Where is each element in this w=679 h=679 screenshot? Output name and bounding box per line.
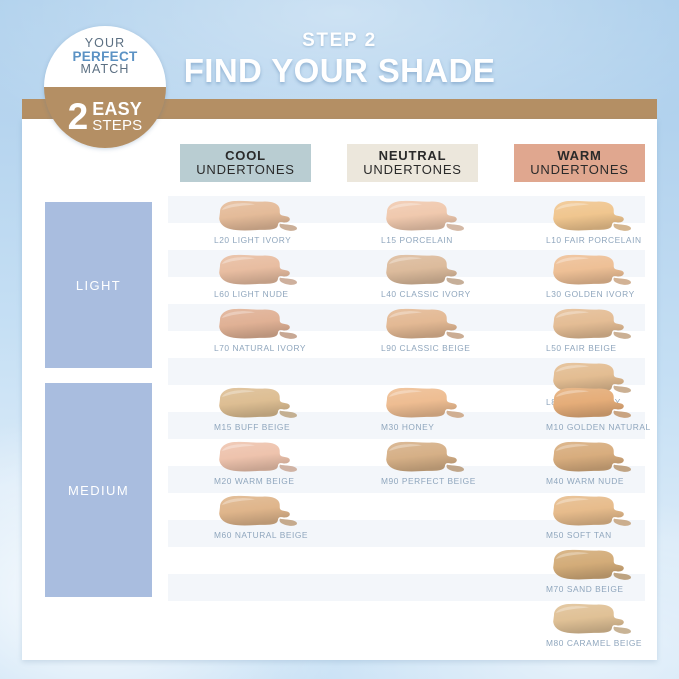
shade-label: L90 CLASSIC BEIGE: [367, 343, 527, 353]
shade-swatch-icon: [548, 306, 643, 342]
column-title-neutral: NEUTRAL: [379, 149, 447, 163]
shade-swatch-icon: [381, 252, 476, 288]
depth-block-medium: MEDIUM: [45, 383, 152, 597]
shade-cell[interactable]: L90 CLASSIC BEIGE: [367, 306, 527, 353]
shade-swatch-icon: [381, 439, 476, 475]
shade-cell[interactable]: L60 LIGHT NUDE: [200, 252, 360, 299]
shade-swatch-icon: [381, 385, 476, 421]
shade-label: M30 HONEY: [367, 422, 527, 432]
shade-swatch-icon: [548, 493, 643, 529]
shade-cell[interactable]: M30 HONEY: [367, 385, 527, 432]
badge-line-match: MATCH: [80, 63, 129, 76]
badge-line-your: YOUR: [85, 37, 126, 50]
shade-swatch-icon: [548, 198, 643, 234]
shade-swatch-icon: [548, 439, 643, 475]
shade-cell[interactable]: M20 WARM BEIGE: [200, 439, 360, 486]
shade-label: M50 SOFT TAN: [534, 530, 679, 540]
shade-label: M15 BUFF BEIGE: [200, 422, 360, 432]
shade-swatch-icon: [214, 493, 309, 529]
shade-label: L50 FAIR BEIGE: [534, 343, 679, 353]
shade-label: L10 FAIR PORCELAIN: [534, 235, 679, 245]
shade-swatch-icon: [381, 198, 476, 234]
shade-swatch-icon: [548, 252, 643, 288]
shade-cell[interactable]: M70 SAND BEIGE: [534, 547, 679, 594]
shade-swatch-icon: [548, 385, 643, 421]
shade-label: L60 LIGHT NUDE: [200, 289, 360, 299]
shade-label: L30 GOLDEN IVORY: [534, 289, 679, 299]
shade-swatch-icon: [381, 306, 476, 342]
column-title-cool: COOL: [225, 149, 266, 163]
badge-bottom-half: 2 EASY STEPS: [44, 87, 166, 148]
shade-label: M20 WARM BEIGE: [200, 476, 360, 486]
badge-line-perfect: PERFECT: [72, 50, 137, 64]
depth-block-light: LIGHT: [45, 202, 152, 368]
column-header-neutral: NEUTRAL UNDERTONES: [347, 144, 478, 182]
shade-cell[interactable]: L20 LIGHT IVORY: [200, 198, 360, 245]
shade-label: L70 NATURAL IVORY: [200, 343, 360, 353]
shade-label: M80 CARAMEL BEIGE: [534, 638, 679, 648]
shade-cell[interactable]: M10 GOLDEN NATURAL: [534, 385, 679, 432]
shade-label: L40 CLASSIC IVORY: [367, 289, 527, 299]
perfect-match-badge: YOUR PERFECT MATCH 2 EASY STEPS: [44, 26, 166, 148]
shade-swatch-icon: [548, 601, 643, 637]
shade-swatch-icon: [214, 252, 309, 288]
shade-label: M70 SAND BEIGE: [534, 584, 679, 594]
column-subtitle-cool: UNDERTONES: [196, 163, 295, 177]
shade-label: L15 PORCELAIN: [367, 235, 527, 245]
shade-label: M40 WARM NUDE: [534, 476, 679, 486]
depth-label-medium: MEDIUM: [68, 483, 129, 498]
shade-cell[interactable]: M90 PERFECT BEIGE: [367, 439, 527, 486]
shade-swatch-icon: [214, 439, 309, 475]
shade-label: M90 PERFECT BEIGE: [367, 476, 527, 486]
shade-cell[interactable]: L15 PORCELAIN: [367, 198, 527, 245]
depth-label-light: LIGHT: [76, 278, 121, 293]
shade-cell[interactable]: M40 WARM NUDE: [534, 439, 679, 486]
badge-step-words: EASY STEPS: [92, 100, 142, 133]
column-subtitle-warm: UNDERTONES: [530, 163, 629, 177]
badge-step-number: 2: [68, 101, 89, 134]
shade-label: M10 GOLDEN NATURAL: [534, 422, 679, 432]
shade-swatch-icon: [214, 385, 309, 421]
column-title-warm: WARM: [557, 149, 601, 163]
shade-cell[interactable]: M80 CARAMEL BEIGE: [534, 601, 679, 648]
badge-top-half: YOUR PERFECT MATCH: [44, 26, 166, 87]
column-header-cool: COOL UNDERTONES: [180, 144, 311, 182]
shade-swatch-icon: [548, 547, 643, 583]
shade-label: L20 LIGHT IVORY: [200, 235, 360, 245]
shade-label: M60 NATURAL BEIGE: [200, 530, 360, 540]
shade-cell[interactable]: M50 SOFT TAN: [534, 493, 679, 540]
shade-swatch-icon: [214, 198, 309, 234]
shade-cell[interactable]: L10 FAIR PORCELAIN: [534, 198, 679, 245]
shade-cell[interactable]: L50 FAIR BEIGE: [534, 306, 679, 353]
column-subtitle-neutral: UNDERTONES: [363, 163, 462, 177]
column-header-warm: WARM UNDERTONES: [514, 144, 645, 182]
shade-cell[interactable]: L70 NATURAL IVORY: [200, 306, 360, 353]
badge-word-easy: EASY: [92, 100, 142, 118]
shade-cell[interactable]: L40 CLASSIC IVORY: [367, 252, 527, 299]
shade-cell[interactable]: L30 GOLDEN IVORY: [534, 252, 679, 299]
shade-cell[interactable]: M15 BUFF BEIGE: [200, 385, 360, 432]
badge-word-steps: STEPS: [92, 118, 142, 133]
shade-cell[interactable]: M60 NATURAL BEIGE: [200, 493, 360, 540]
shade-swatch-icon: [214, 306, 309, 342]
